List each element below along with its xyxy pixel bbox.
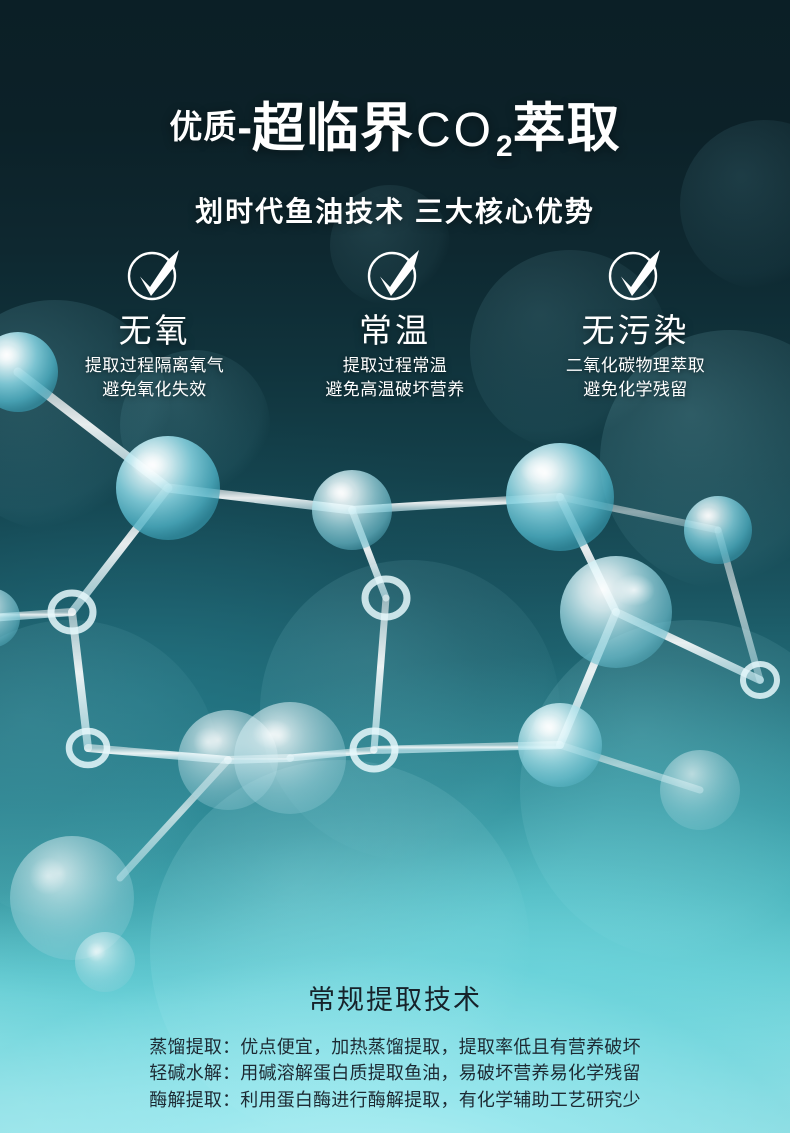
feature-description: 提取过程隔离氧气 避免氧化失效 bbox=[42, 354, 267, 402]
title-tail: 萃取 bbox=[513, 99, 621, 158]
feature-item-oxygen-free: 无氧 提取过程隔离氧气 避免氧化失效 bbox=[42, 243, 267, 403]
feature-list: 无氧 提取过程隔离氧气 避免氧化失效 常温 提取过程常温 避免高温破坏营养 bbox=[0, 243, 790, 403]
poster-canvas: 优质-超临界CO2萃取 划时代鱼油技术 三大核心优势 无氧 提取过程隔离氧气 避… bbox=[0, 0, 790, 1133]
bottom-section-lines: 蒸馏提取：优点便宜，加热蒸馏提取，提取率低且有营养破坏 轻碱水解：用碱溶解蛋白质… bbox=[0, 1034, 790, 1113]
feature-title: 无污染 bbox=[523, 313, 748, 349]
feature-description-line: 二氧化碳物理萃取 bbox=[523, 354, 748, 378]
bottom-line-distillation: 蒸馏提取：优点便宜，加热蒸馏提取，提取率低且有营养破坏 bbox=[0, 1034, 790, 1060]
feature-description-line: 避免氧化失效 bbox=[42, 378, 267, 402]
feature-item-pollution-free: 无污染 二氧化碳物理萃取 避免化学残留 bbox=[523, 243, 748, 403]
check-circle-icon bbox=[283, 243, 508, 305]
feature-description-line: 提取过程隔离氧气 bbox=[42, 354, 267, 378]
bottom-section-title: 常规提取技术 bbox=[0, 978, 790, 1017]
molecular-structure-graphic bbox=[0, 0, 790, 1133]
feature-item-room-temperature: 常温 提取过程常温 避免高温破坏营养 bbox=[283, 243, 508, 403]
title-formula-subscript: 2 bbox=[496, 130, 513, 163]
feature-description-line: 提取过程常温 bbox=[283, 354, 508, 378]
title-prefix: 优质 bbox=[169, 108, 237, 145]
feature-description-line: 避免化学残留 bbox=[523, 378, 748, 402]
feature-title: 常温 bbox=[283, 313, 508, 349]
bottom-line-enzymatic: 酶解提取：利用蛋白酶进行酶解提取，有化学辅助工艺研究少 bbox=[0, 1087, 790, 1113]
bottom-line-alkali: 轻碱水解：用碱溶解蛋白质提取鱼油，易破坏营养易化学残留 bbox=[0, 1060, 790, 1086]
feature-title: 无氧 bbox=[42, 313, 267, 349]
title-dash: - bbox=[237, 103, 252, 152]
page-subtitle: 划时代鱼油技术 三大核心优势 bbox=[0, 190, 790, 230]
feature-description: 提取过程常温 避免高温破坏营养 bbox=[283, 354, 508, 402]
page-title: 优质-超临界CO2萃取 bbox=[0, 86, 790, 164]
check-circle-icon bbox=[42, 243, 267, 305]
title-main: 超临界 bbox=[252, 99, 414, 158]
check-circle-icon bbox=[523, 243, 748, 305]
feature-description: 二氧化碳物理萃取 避免化学残留 bbox=[523, 354, 748, 402]
title-formula-base: CO bbox=[414, 104, 496, 157]
feature-description-line: 避免高温破坏营养 bbox=[283, 378, 508, 402]
